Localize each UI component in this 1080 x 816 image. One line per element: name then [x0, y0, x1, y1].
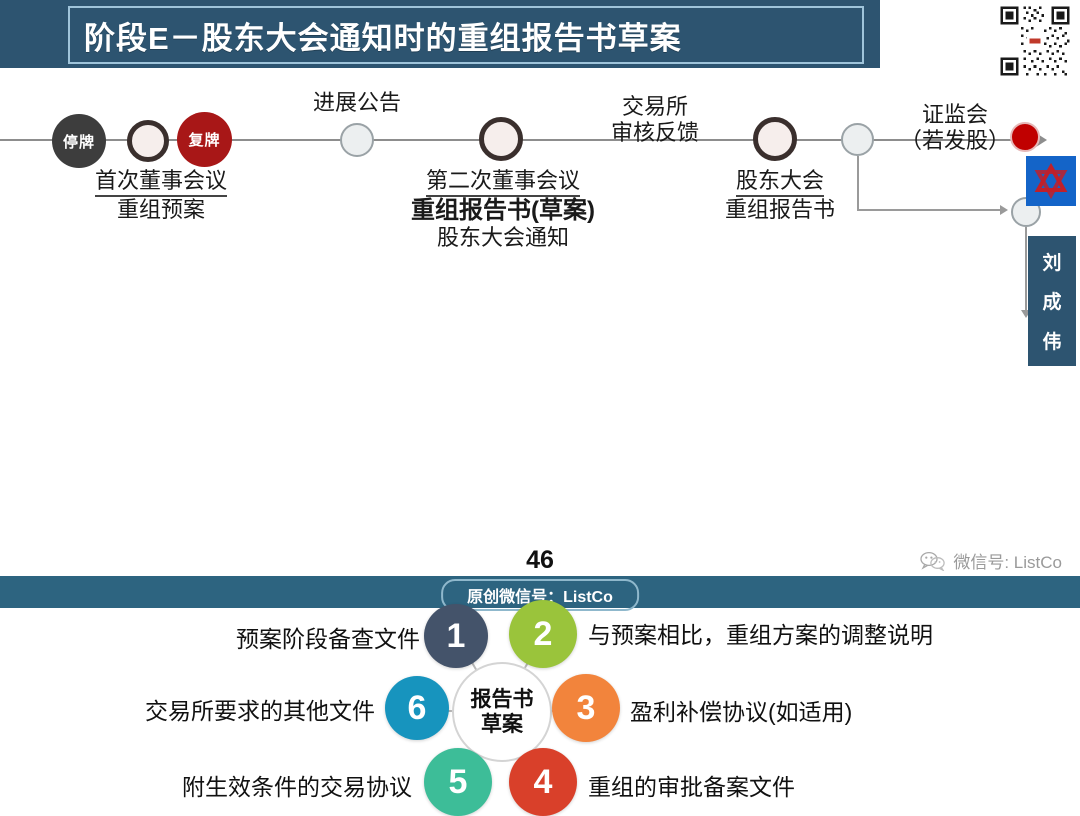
timeline-node-ring-3[interactable]: [753, 117, 797, 161]
caption-text: 进展公告: [313, 90, 401, 115]
timeline-node-progress[interactable]: [340, 123, 374, 157]
hub-label-1: 预案阶段备查文件: [184, 620, 420, 654]
hub-label-3: 盈利补偿协议(如适用): [630, 693, 852, 727]
page-title: 阶段E－股东大会通知时的重组报告书草案: [70, 13, 682, 58]
csrc-logo-icon: [1026, 156, 1076, 206]
author-char: 刘: [1042, 248, 1061, 275]
hub-bubble-6[interactable]: 6: [385, 676, 449, 740]
hub-bubble-4[interactable]: 4: [509, 748, 577, 816]
caption-text: 交易所: [622, 94, 688, 119]
hub-center-line1: 报告书: [471, 687, 534, 712]
timeline-caption-csrc: 证监会 （若发股）: [890, 102, 1020, 154]
hub-bubble-number: 2: [534, 615, 553, 654]
caption-text: 第二次董事会议: [426, 168, 580, 197]
caption-text: 证监会: [922, 102, 988, 127]
hub-bubble-number: 4: [534, 763, 553, 802]
timeline-caption-stage2: 第二次董事会议 重组报告书(草案) 股东大会通知: [383, 168, 623, 251]
caption-text: 首次董事会议: [95, 168, 227, 197]
hub-bubble-2[interactable]: 2: [509, 600, 577, 668]
caption-text: 审核反馈: [611, 120, 699, 145]
timeline-node-label: 复牌: [188, 129, 220, 150]
hub-center-line2: 草案: [481, 712, 523, 737]
timeline-caption-exchange: 交易所 审核反馈: [580, 94, 730, 146]
timeline-node-ring-2[interactable]: [479, 117, 523, 161]
hub-bubble-number: 3: [577, 689, 596, 728]
caption-text: 股东大会通知: [437, 225, 569, 250]
timeline-node-label: 停牌: [63, 131, 95, 152]
hub-label-2: 与预案相比，重组方案的调整说明: [588, 616, 933, 650]
timeline-caption-stage3: 股东大会 重组报告书: [700, 168, 860, 223]
hub-center: 报告书 草案: [452, 662, 552, 762]
hub-label-6: 交易所要求的其他文件: [95, 692, 375, 726]
hub-label-4: 重组的审批备案文件: [588, 768, 795, 802]
header-band: 阶段E－股东大会通知时的重组报告书草案: [0, 0, 880, 72]
slide-root: 阶段E－股东大会通知时的重组报告书草案: [0, 0, 1080, 608]
timeline-caption-progress: 进展公告: [272, 90, 442, 116]
timeline: 停牌 复牌 首次董事会议 重组预案 进展公告 第二次董事会议 重组报告书(草案)…: [0, 82, 1080, 292]
hub-label-5: 附生效条件的交易协议: [130, 768, 412, 802]
caption-text: 重组预案: [117, 197, 205, 222]
wechat-icon: [920, 551, 946, 571]
hub-bubble-1[interactable]: 1: [424, 604, 488, 668]
hub-bubble-number: 6: [408, 689, 427, 728]
wechat-tag: 微信号: ListCo: [920, 548, 1062, 573]
timeline-node-plain-2[interactable]: [841, 123, 874, 156]
hub-bubble-number: 5: [449, 763, 468, 802]
header-title-box: 阶段E－股东大会通知时的重组报告书草案: [68, 6, 864, 64]
page-number: 46: [0, 546, 1080, 575]
timeline-node-halt[interactable]: 停牌: [52, 114, 106, 168]
timeline-node-resume[interactable]: 复牌: [177, 112, 232, 167]
hub-bubble-number: 1: [447, 617, 466, 656]
caption-text: （若发股）: [900, 128, 1010, 153]
hub-bubble-3[interactable]: 3: [552, 674, 620, 742]
timeline-node-ring-1[interactable]: [127, 120, 169, 162]
caption-text: 重组报告书(草案): [411, 197, 595, 224]
hub-bubble-5[interactable]: 5: [424, 748, 492, 816]
hub-diagram: 报告书 草案 1 2 3 4 5 6 预案阶段备查文件 与预案相比，重组方案的调…: [0, 296, 1080, 536]
qr-code[interactable]: [998, 4, 1072, 78]
caption-text: 重组报告书: [725, 197, 835, 222]
timeline-caption-stage1: 首次董事会议 重组预案: [56, 168, 266, 223]
caption-text: 股东大会: [736, 168, 824, 197]
wechat-tag-text: 微信号: ListCo: [953, 548, 1062, 573]
